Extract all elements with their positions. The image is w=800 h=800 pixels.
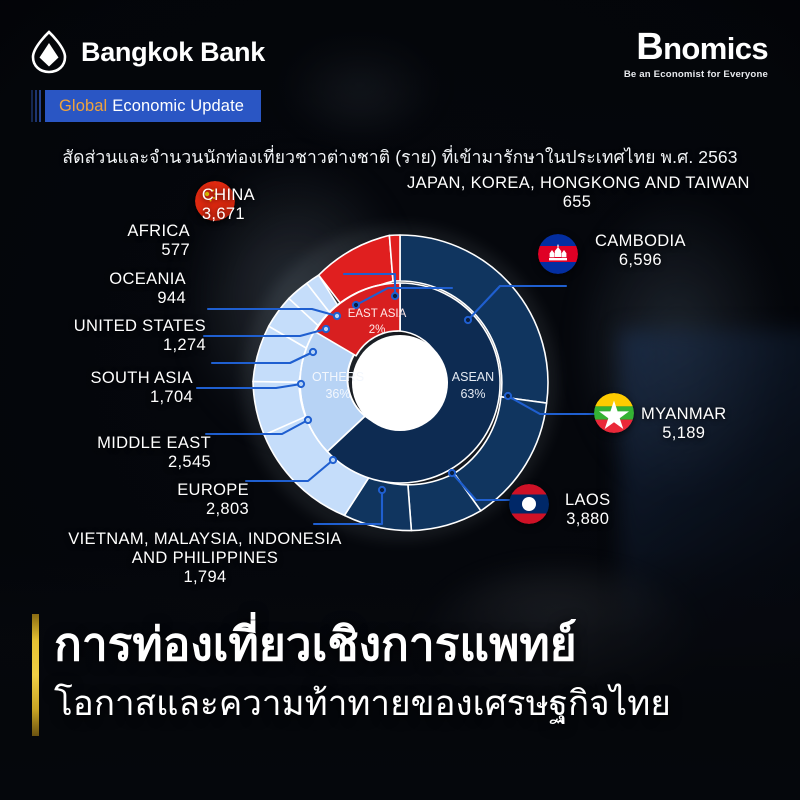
bangkok-bank-wordmark: Bangkok Bank	[81, 37, 265, 68]
laos-flag-icon	[509, 484, 549, 524]
callout-africa-name: AFRICA	[127, 222, 190, 241]
cambodia-flag-icon	[538, 234, 578, 274]
callout-south-asia-name: SOUTH ASIA	[90, 369, 193, 388]
callout-united-states-value: 1,274	[74, 336, 206, 355]
callout-middle-east: MIDDLE EAST 2,545	[97, 434, 211, 472]
callout-japan-group-name: JAPAN, KOREA, HONGKONG AND TAIWAN	[407, 174, 747, 193]
bnomics-tagline: Be an Economist for Everyone	[624, 69, 768, 80]
myanmar-flag-icon	[594, 393, 634, 433]
chart-subtitle: สัดส่วนและจำนวนนักท่องเที่ยวชาวต่างชาติ …	[0, 143, 800, 171]
callout-vietnam-group-name2: AND PHILIPPINES	[60, 549, 350, 568]
callout-china: CHINA 3,671	[202, 186, 255, 224]
callout-china-name: CHINA	[202, 186, 255, 205]
asean-label: ASEAN	[452, 370, 494, 384]
others-percent: 36%	[325, 387, 350, 401]
callout-south-asia-value: 1,704	[90, 388, 193, 407]
east-asia-label: EAST ASIA	[348, 308, 407, 320]
gold-accent-bar	[32, 614, 39, 736]
callout-cambodia: CAMBODIA 6,596	[595, 232, 686, 270]
bnomics-wordmark: Bnomics	[624, 28, 768, 66]
callout-europe: EUROPE 2,803	[177, 481, 249, 519]
asean-percent: 63%	[460, 387, 485, 401]
east-asia-percent: 2%	[369, 324, 386, 336]
callout-middle-east-value: 2,545	[97, 453, 211, 472]
callout-united-states-name: UNITED STATES	[74, 317, 206, 336]
callout-vietnam-group: VIETNAM, MALAYSIA, INDONESIA AND PHILIPP…	[60, 530, 350, 587]
callout-middle-east-name: MIDDLE EAST	[97, 434, 211, 453]
footer: การท่องเที่ยวเชิงการแพทย์ โอกาสและความท้…	[0, 600, 800, 800]
callout-south-asia: SOUTH ASIA 1,704	[90, 369, 193, 407]
callout-myanmar-value: 5,189	[641, 424, 727, 443]
infographic-canvas: Bangkok Bank Global Economic Update Bnom…	[0, 0, 800, 800]
callout-europe-value: 2,803	[177, 500, 249, 519]
bnomics-logo: Bnomics Be an Economist for Everyone	[624, 28, 768, 80]
headline: การท่องเที่ยวเชิงการแพทย์	[54, 608, 577, 681]
callout-europe-name: EUROPE	[177, 481, 249, 500]
chart-hub	[352, 335, 448, 431]
global-economic-update-badge[interactable]: Global Economic Update	[31, 90, 261, 122]
header: Bangkok Bank Global Economic Update Bnom…	[0, 0, 800, 135]
callout-japan-group: JAPAN, KOREA, HONGKONG AND TAIWAN 655	[407, 174, 747, 212]
callout-laos-name: LAOS	[565, 491, 610, 510]
callout-japan-group-value: 655	[407, 193, 747, 212]
callout-vietnam-group-name: VIETNAM, MALAYSIA, INDONESIA	[60, 530, 350, 549]
callout-myanmar: MYANMAR 5,189	[641, 405, 727, 443]
bangkok-bank-logo: Bangkok Bank	[30, 30, 265, 74]
bnomics-initial: B	[636, 26, 663, 68]
callout-vietnam-group-value: 1,794	[60, 568, 350, 587]
callout-laos: LAOS 3,880	[565, 491, 610, 529]
callout-united-states: UNITED STATES 1,274	[74, 317, 206, 355]
bnomics-word-rest: nomics	[663, 31, 768, 66]
callout-china-value: 3,671	[202, 205, 255, 224]
callout-africa-value: 577	[127, 241, 190, 260]
callout-cambodia-value: 6,596	[595, 251, 686, 270]
subheadline: โอกาสและความท้าทายของเศรษฐกิจไทย	[54, 676, 671, 731]
callout-oceania-value: 944	[109, 289, 186, 308]
others-label: OTHERS	[312, 370, 364, 384]
bangkok-bank-leaf-icon	[30, 30, 68, 74]
callout-myanmar-name: MYANMAR	[641, 405, 727, 424]
badge-word-rest: Economic Update	[112, 97, 244, 116]
badge-word-global: Global	[59, 97, 107, 116]
callout-laos-value: 3,880	[565, 510, 610, 529]
callout-cambodia-name: CAMBODIA	[595, 232, 686, 251]
badge-stripes-decoration	[31, 90, 41, 122]
callout-oceania-name: OCEANIA	[109, 270, 186, 289]
callout-oceania: OCEANIA 944	[109, 270, 186, 308]
callout-africa: AFRICA 577	[127, 222, 190, 260]
